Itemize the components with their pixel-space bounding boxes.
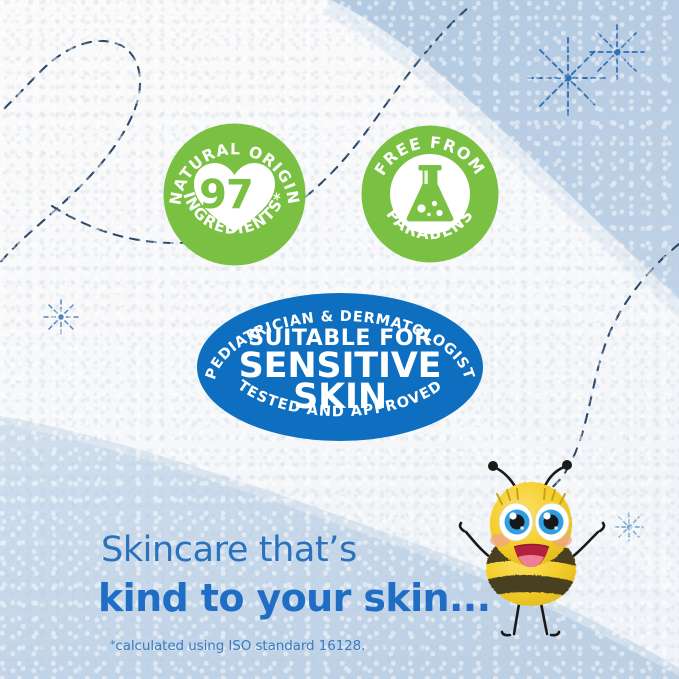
antenna-tip-right [562,460,572,470]
badge-sensitive-skin: SUITABLE FOR SENSITIVE SKIN PEDIATRICIAN… [196,292,484,442]
snowflake-top-right-small [590,25,644,79]
footnote: *calculated using ISO standard 16128. [110,638,365,654]
natural-origin-unit: % [247,165,266,187]
claims-panel: 97 % NATURAL ORIGIN INGREDIENTS* [0,0,679,679]
bee-eye-right [535,503,569,541]
badge-natural-origin: 97 % NATURAL ORIGIN INGREDIENTS* [162,122,307,267]
footnote-text: calculated using ISO standard 16128. [115,638,365,654]
headline-line-1: Skincare that’s [101,530,357,570]
headline-line-2: kind to your skin... [98,576,490,620]
antenna-tip-left [488,461,498,471]
badge-free-from-parabens: FREE FROM PARABENS [360,124,500,264]
bee-eye-left [499,503,533,541]
